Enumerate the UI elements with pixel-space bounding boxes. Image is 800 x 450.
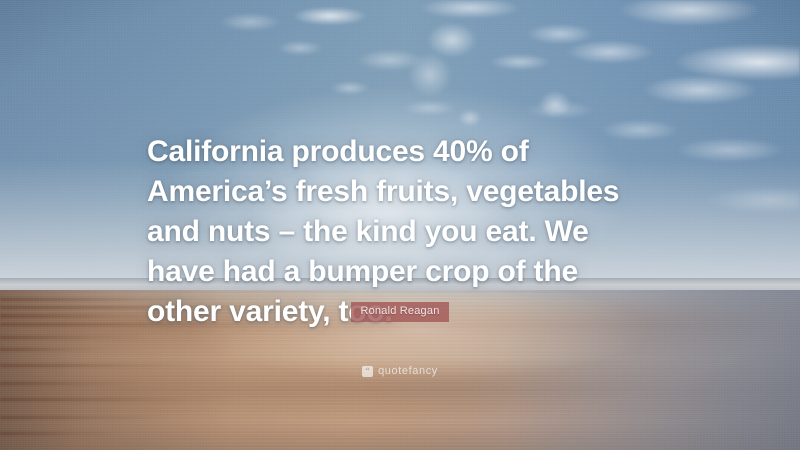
quote-mark-icon: “	[362, 366, 373, 377]
watermark-brand-label: quotefancy	[378, 365, 438, 377]
watermark: “ quotefancy	[0, 365, 800, 377]
author-attribution: Ronald Reagan	[0, 301, 800, 322]
content-layer: California produces 40% of America’s fre…	[0, 0, 800, 450]
quote-wallpaper: California produces 40% of America’s fre…	[0, 0, 800, 450]
author-name-badge: Ronald Reagan	[351, 302, 448, 322]
